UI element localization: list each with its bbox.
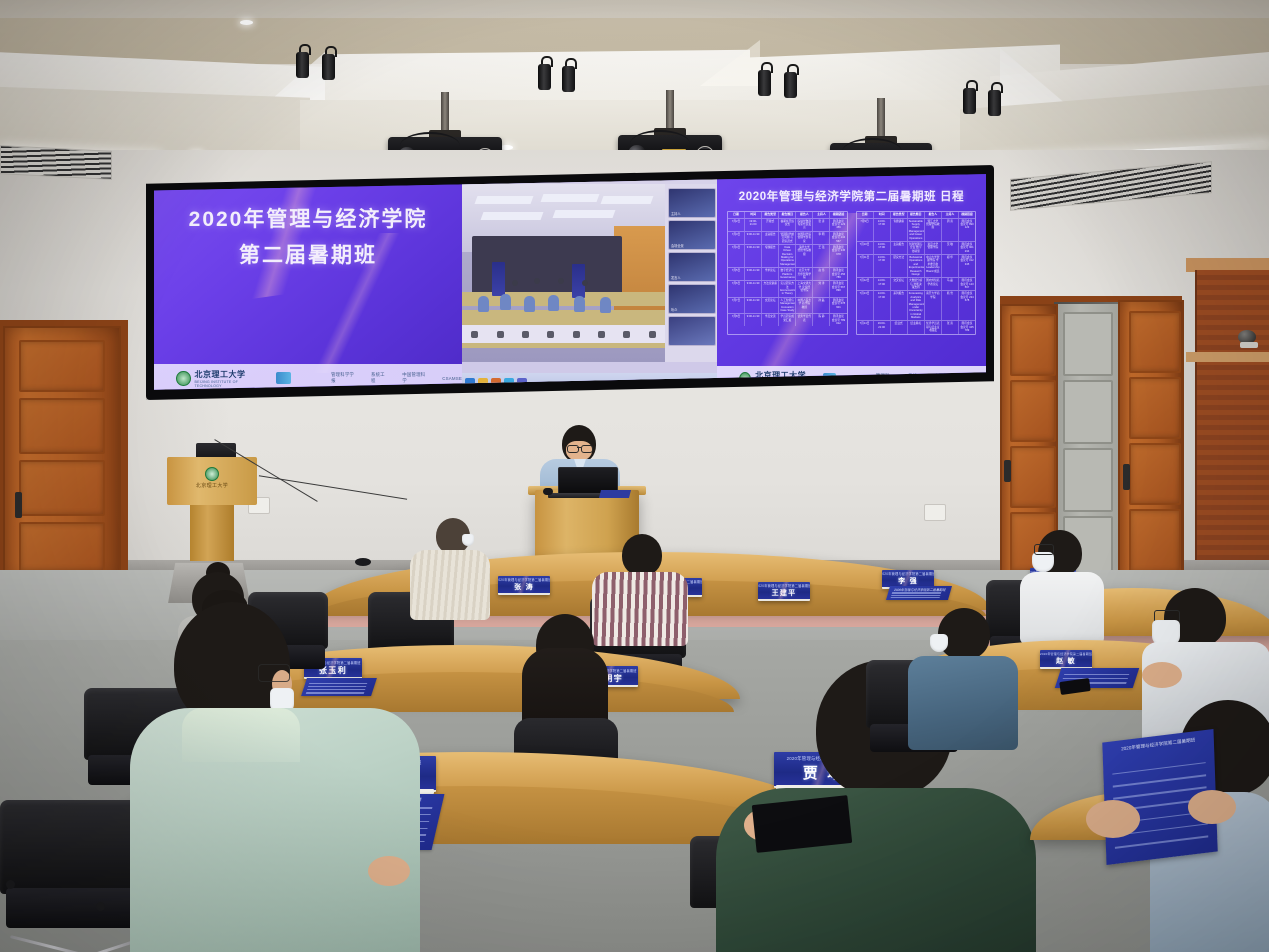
schedule-row: 7月11日14:00-17:00研究方法Behavioral Operation… xyxy=(857,255,976,278)
schedule-cell: Sustainable Supply Chain Management and … xyxy=(908,219,925,241)
schedule-cell: 院领导致辞 专家代表发言 xyxy=(796,219,813,231)
secondary-logo-icon xyxy=(276,372,291,384)
schedule-cell: 9:00-11:30 xyxy=(745,245,762,267)
tablet-device[interactable] xyxy=(752,795,852,853)
chair-caster-1 xyxy=(6,880,15,889)
schedule-cell: 腾讯会议 会议号 345 678 xyxy=(830,245,846,267)
schedule-row: 7月14日19:00-21:00结业式结业典礼优秀学员表彰与结业证书颁发张 涛腾… xyxy=(857,321,976,333)
schedule-cell: 主持人 xyxy=(813,212,830,218)
schedule-cell: 9:00-11:30 xyxy=(745,268,762,280)
schedule-cell: 主持人 xyxy=(942,212,959,218)
schedule-cell: 优秀学员代表 xyxy=(796,314,813,326)
schedule-cell: 7月12日 xyxy=(857,278,874,290)
attendee-2-head xyxy=(622,534,662,576)
schedule-cell: 7月11日 xyxy=(857,255,874,277)
schedule-cell: 复旦大学 管理学院 xyxy=(925,242,942,254)
attendee-right-white-shirt xyxy=(1020,530,1104,642)
schedule-row: 7月6日9:00-11:30方法论讲座实证研究方法 Econometrics i… xyxy=(728,281,847,298)
schedule-cell: 腾讯会议 会议号 345 789 xyxy=(959,321,975,333)
schedule-cell: 陈 静 xyxy=(813,314,830,326)
schedule-cell: 系列报告 xyxy=(891,291,908,320)
schedule-cell: 李 明 xyxy=(813,232,830,244)
vc-members-icon[interactable] xyxy=(573,331,580,338)
mouse-icon[interactable] xyxy=(543,488,553,495)
schedule-cell: 学术论坛 xyxy=(762,268,779,280)
schedule-cell: 周 涛 xyxy=(942,219,959,241)
schedule-cell: 时间 xyxy=(874,212,891,218)
schedule-cell: 9:00-11:30 xyxy=(745,281,762,297)
schedule-cell: 14:00-17:00 xyxy=(874,219,891,241)
power-outlet-right[interactable] xyxy=(924,504,946,521)
vc-mute-icon[interactable] xyxy=(471,331,478,338)
schedule-cell: Data Driven Decision Making for Operatio… xyxy=(779,245,796,267)
right-door-handle-a[interactable] xyxy=(1004,460,1011,482)
schedule-cell: 7月10日 xyxy=(857,242,874,254)
sponsor-1: 管理科学学报 xyxy=(331,372,357,384)
title-slide-panel: 2020年管理与经济学院 第二届暑期班 北京理工大学 BEIJING INSTI… xyxy=(154,173,462,392)
schedule-cell: 专题讲座 xyxy=(891,219,908,241)
foreground-mint-glasses xyxy=(258,664,290,682)
vc-toolbar[interactable] xyxy=(462,325,665,343)
schedule-cell: 优秀学员表彰与结业证书颁发 xyxy=(925,321,942,333)
schedule-cell: 腾讯会议 会议号 123 567 xyxy=(959,278,975,290)
side-lectern xyxy=(167,457,257,505)
foreground-mint-collar xyxy=(182,708,300,762)
schedule-cell: 视频链接 xyxy=(830,212,846,218)
lectern-label: 北京理工大学 xyxy=(180,482,244,489)
schedule-cell: 报告类型 xyxy=(891,212,908,218)
screen-content: 2020年管理与经济学院 第二届暑期班 北京理工大学 BEIJING INSTI… xyxy=(154,173,986,392)
speaker-glasses-bridge xyxy=(577,447,581,448)
schedule-row: 7月3日9:00-11:30主旨报告管理科学前沿问题 与研究范式中国科学院 管理… xyxy=(728,232,847,245)
schedule-cell: 7月7日 xyxy=(728,298,745,314)
schedule-cell: 腾讯会议 会议号 901 234 xyxy=(959,242,975,254)
right-door-leaf-b[interactable] xyxy=(1118,300,1184,584)
foreground-mint-hand xyxy=(368,856,410,886)
attendee-striped-shirt-left xyxy=(410,518,490,618)
spotlight-icon-5 xyxy=(758,62,771,96)
wood-panel-sill xyxy=(1186,352,1269,362)
university-emblem-icon xyxy=(205,467,219,481)
schedule-cell: Behavioral Operations and Experimental R… xyxy=(908,255,925,277)
slide-title-line2: 第二届暑期班 xyxy=(154,239,462,269)
schedule-cell: 腾讯会议 会议号 789 012 xyxy=(830,314,846,326)
attendee-right-3-hand xyxy=(1142,662,1182,688)
attendee-right-1-glasses xyxy=(1034,544,1054,555)
vc-more-icon[interactable] xyxy=(649,331,656,338)
schedule-cell: 马 磊 xyxy=(942,278,959,290)
lectern-blue-paper xyxy=(599,490,631,498)
spotlight-icon-7 xyxy=(963,80,976,114)
schedule-row: 7月5日9:00-11:30学术论坛数字经济与 Platform Governa… xyxy=(728,268,847,281)
placard-front-1: 2020年管理与经济学院第二届暑期班 张 涛 xyxy=(498,576,550,595)
foreground-right-hand-left xyxy=(1086,800,1140,838)
left-door[interactable] xyxy=(3,326,121,579)
schedule-cell: 人工智能与 Management Innovation Case Study xyxy=(779,298,796,314)
schedule-cell: 张 涛 xyxy=(813,219,830,231)
schedule-cell: 腾讯会议 会议号 567 890 xyxy=(830,281,846,297)
schedule-row: 7月8日9:00-11:30学员交流学员研究成果汇报优秀学员代表陈 静腾讯会议 … xyxy=(728,314,847,326)
attendee-right-blue-polo xyxy=(908,608,1018,748)
schedule-cell: 19:00-21:00 xyxy=(745,219,762,231)
schedule-cell: 刘 洋 xyxy=(813,281,830,297)
downlight-icon-1 xyxy=(240,20,253,25)
schedule-cell: 7月14日 xyxy=(857,321,874,333)
schedule-cell: 14:00-17:00 xyxy=(874,242,891,254)
schedule-tables: 日期时间报告类型报告题目报告人主持人视频链接7月2日19:00-21:00开幕式… xyxy=(727,211,976,335)
spotlight-icon-3 xyxy=(538,56,551,90)
schedule-cell: 7月5日 xyxy=(728,268,745,280)
slide-title-line1: 2020年管理与经济学院 xyxy=(154,203,462,233)
schedule-cell: 南开大学商学院 xyxy=(925,291,942,320)
schedule-cell: 暑期班开班仪式 xyxy=(779,219,796,231)
schedule-cell: 腾讯会议 会议号 234 678 xyxy=(959,291,975,320)
lecture-hall-photo: 2020年管理与经济学院 第二届暑期班 北京理工大学 BEIJING INSTI… xyxy=(0,0,1269,952)
schedule-cell: 主旨报告 xyxy=(891,242,908,254)
schedule-cell: 报告人 xyxy=(796,212,813,218)
schedule-cell: 学员交流 xyxy=(762,314,779,326)
bit-logo-sub: BEIJING INSTITUTE OF TECHNOLOGY xyxy=(195,380,264,388)
schedule-row: 7月13日14:00-17:00系列报告Forecasting Analytic… xyxy=(857,291,976,321)
chair-caster-2 xyxy=(96,902,105,911)
schedule-cell: 7月8日 xyxy=(728,314,745,326)
schedule-cell: 报告题目 xyxy=(779,212,796,218)
led-video-wall: 2020年管理与经济学院 第二届暑期班 北京理工大学 BEIJING INSTI… xyxy=(146,165,994,400)
schedule-cell: 日期 xyxy=(857,212,874,218)
schedule-cell: 9:00-11:30 xyxy=(745,232,762,244)
schedule-cell: 结业典礼 xyxy=(908,321,925,333)
schedule-cell: 报告类型 xyxy=(762,212,779,218)
attendee-long-hair xyxy=(500,614,630,764)
schedule-cell: 北京大学 光华管理学院 xyxy=(796,268,813,280)
schedule-cell: 7月2日 xyxy=(728,219,745,231)
right-door-handle-b[interactable] xyxy=(1123,464,1130,490)
attendee-right-2-mask xyxy=(930,634,948,652)
ceiling-vent-left xyxy=(0,145,112,180)
schedule-slide-panel: 2020年管理与经济学院第二届暑期班 日程 日期时间报告类型报告题目报告人主持人… xyxy=(717,173,986,392)
schedule-cell: 王 强 xyxy=(813,245,830,267)
schedule-cell: 日期 xyxy=(728,212,745,218)
schedule-cell: 交叉论坛 xyxy=(762,298,779,314)
schedule-title: 2020年管理与经济学院第二届暑期班 日程 xyxy=(717,188,986,204)
sponsor-2: 系统工程 xyxy=(371,372,388,384)
schedule-cell: 孙 磊 xyxy=(813,298,830,314)
schedule-cell: 时间 xyxy=(745,212,762,218)
foreground-right-hand-right xyxy=(1188,790,1236,824)
schedule-table-right: 日期时间报告类型报告题目报告人主持人视频链接7月9日14:00-17:00专题讲… xyxy=(856,211,977,335)
sheet-title-front: 2020年管理与经济学院第二届暑期班 xyxy=(888,587,951,592)
schedule-cell: 大数据分析与 智能决策支持 xyxy=(908,278,925,290)
schedule-cell: 实证研究方法 Econometrics in Theory xyxy=(779,281,796,297)
schedule-cell: 赵 伟 xyxy=(813,268,830,280)
sponsor-4: CSAMSE xyxy=(442,376,462,381)
schedule-row: 7月12日14:00-17:00交叉论坛大数据分析与 智能决策支持国内外知名学者… xyxy=(857,278,976,291)
side-lectern-stem xyxy=(190,503,234,561)
chair-front-left[interactable] xyxy=(0,800,150,952)
placard-right-2: 2020年管理与经济学院第二届暑期班 赵 敏 xyxy=(1040,650,1092,669)
schedule-cell: 腾讯会议 会议号 456 789 xyxy=(830,268,846,280)
schedule-cell: 上海交通大学 安泰经管学院 xyxy=(796,281,813,297)
program-sheet-front: 2020年管理与经济学院第二届暑期班 xyxy=(886,586,952,600)
bit-emblem-icon xyxy=(176,371,191,386)
bit-logo-name: 北京理工大学 xyxy=(195,369,264,380)
attendee-1-shirt xyxy=(410,550,490,620)
schedule-cell: Forecasting Analytics and Risk Managemen… xyxy=(908,291,925,320)
schedule-cell: 浙江大学 管理学院教授 xyxy=(925,219,942,241)
vc-main-video xyxy=(462,184,665,362)
schedule-cell: 19:00-21:00 xyxy=(874,321,891,333)
schedule-cell: 韩 雪 xyxy=(942,291,959,320)
schedule-cell: 7月4日 xyxy=(728,245,745,267)
schedule-cell: 腾讯会议 会议号 234 567 xyxy=(830,232,846,244)
foreground-attendee-mint xyxy=(130,596,420,952)
vc-invite-icon[interactable] xyxy=(547,331,554,338)
schedule-cell: 吴 敏 xyxy=(942,242,959,254)
schedule-cell: 7月9日 xyxy=(857,219,874,241)
schedule-cell: 专题报告 xyxy=(762,245,779,267)
schedule-row: 7月2日19:00-21:00开幕式暑期班开班仪式院领导致辞 专家代表发言张 涛… xyxy=(728,219,847,232)
schedule-table-left: 日期时间报告类型报告题目报告人主持人视频链接7月2日19:00-21:00开幕式… xyxy=(727,211,848,335)
attendee-right-1-shirt xyxy=(1020,572,1104,644)
schedule-cell: 9:00-11:30 xyxy=(745,298,762,314)
schedule-cell: 腾讯会议 会议号 678 901 xyxy=(830,298,846,314)
schedule-cell: 9:00-11:30 xyxy=(745,314,762,326)
schedule-cell: 数字经济与 Platform Governance xyxy=(779,268,796,280)
schedule-cell: 14:00-17:00 xyxy=(874,291,891,320)
schedule-row: 7月7日9:00-11:30交叉论坛人工智能与 Management Innov… xyxy=(728,298,847,315)
speaker-glasses-right xyxy=(581,445,593,453)
schedule-cell: 结业式 xyxy=(891,321,908,333)
schedule-cell: 中山大学管理学院 学术委员会 Leadership Board 成员 xyxy=(925,255,942,277)
schedule-header-row: 日期时间报告类型报告题目报告人主持人视频链接 xyxy=(728,212,847,219)
schedule-header-row: 日期时间报告类型报告题目报告人主持人视频链接 xyxy=(857,212,976,219)
schedule-cell: 国内外知名学者论坛 xyxy=(925,278,942,290)
left-door-handle[interactable] xyxy=(15,492,22,518)
schedule-cell: 14:00-17:00 xyxy=(874,278,891,290)
schedule-cell: 视频链接 xyxy=(959,212,975,218)
schedule-cell: 开幕式 xyxy=(762,219,779,231)
schedule-cell: 14:00-17:00 xyxy=(874,255,891,277)
schedule-row: 7月9日14:00-17:00专题讲座Sustainable Supply Ch… xyxy=(857,219,976,242)
schedule-cell: 主旨报告 xyxy=(762,232,779,244)
schedule-cell: 腾讯会议 会议号 012 345 xyxy=(959,255,975,277)
schedule-cell: 创新管理与企业 数字化转型 xyxy=(908,242,925,254)
schedule-row: 7月4日9:00-11:30专题报告Data Driven Decision M… xyxy=(728,245,847,268)
spotlight-icon-1 xyxy=(296,44,309,78)
placard-front-3: 2020年管理与经济学院第二届暑期班 王建平 xyxy=(758,582,810,601)
schedule-cell: 7月6日 xyxy=(728,281,745,297)
table-microphone-icon[interactable] xyxy=(355,558,371,566)
schedule-row: 7月10日14:00-17:00主旨报告创新管理与企业 数字化转型复旦大学 管理… xyxy=(857,242,976,255)
spotlight-icon-6 xyxy=(784,64,797,98)
schedule-cell: 方法论讲座 xyxy=(762,281,779,297)
attendee-right-2-shirt xyxy=(908,656,1018,750)
schedule-cell: 张 涛 xyxy=(942,321,959,333)
sponsor-3: 中国管理科学 xyxy=(402,372,428,384)
schedule-cell: 管理科学前沿问题 与研究范式 xyxy=(779,232,796,244)
bit-logo: 北京理工大学 BEIJING INSTITUTE OF TECHNOLOGY xyxy=(176,369,291,388)
wall-camera-icon xyxy=(1238,330,1260,348)
schedule-cell: 学员研究成果汇报 xyxy=(779,314,796,326)
schedule-cell: 研究方法 xyxy=(891,255,908,277)
wood-wall-panel xyxy=(1195,270,1269,570)
schedule-cell: 中国人民大学 商学院教授 xyxy=(796,298,813,314)
spotlight-icon-8 xyxy=(988,82,1001,116)
attendee-right-1-mask xyxy=(1032,552,1054,572)
schedule-cell: 清华大学 经管学院教授 xyxy=(796,245,813,267)
attendee-1-mask xyxy=(462,534,474,546)
schedule-cell: 腾讯会议 会议号 123 456 xyxy=(830,219,846,231)
schedule-cell: 报告人 xyxy=(925,212,942,218)
schedule-cell: 7月3日 xyxy=(728,232,745,244)
spotlight-icon-4 xyxy=(562,58,575,92)
vc-share-screen-icon[interactable] xyxy=(522,331,529,338)
spotlight-icon-2 xyxy=(322,46,335,80)
schedule-cell: 腾讯会议 会议号 890 123 xyxy=(959,219,975,241)
schedule-cell: 郑 华 xyxy=(942,255,959,277)
schedule-cell: 交叉论坛 xyxy=(891,278,908,290)
vc-chat-icon[interactable] xyxy=(598,331,605,338)
schedule-cell: 报告题目 xyxy=(908,212,925,218)
vc-record-icon[interactable] xyxy=(623,331,630,338)
schedule-cell: 7月13日 xyxy=(857,291,874,320)
vc-video-icon[interactable] xyxy=(497,331,504,338)
sponsor-logos: 管理科学学报 系统工程 中国管理科学 CSAMSE xyxy=(331,372,462,384)
schedule-cell: 中国科学院 管理学部专家 xyxy=(796,232,813,244)
